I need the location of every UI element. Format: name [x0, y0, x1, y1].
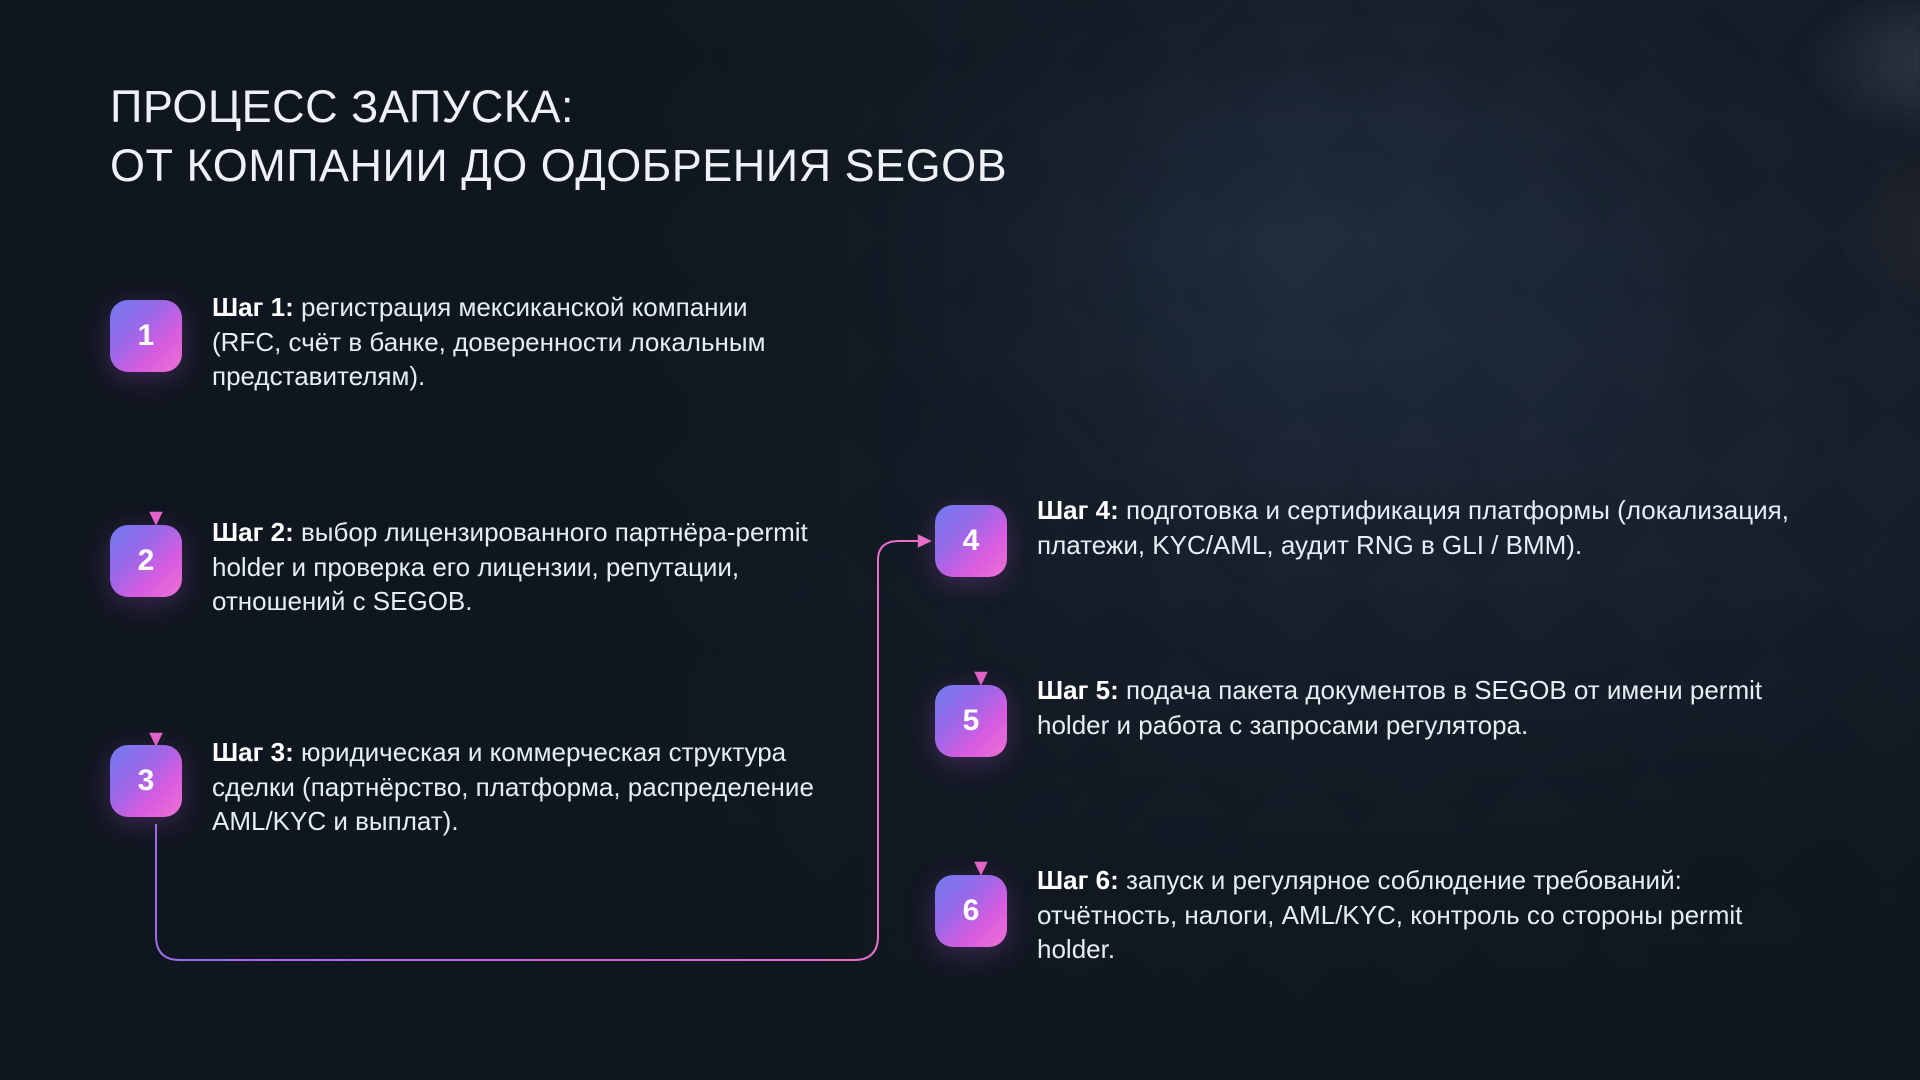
step-label-5: Шаг 5: — [1037, 675, 1119, 705]
step-body-3: юридическая и коммерческая структура сде… — [212, 737, 814, 836]
step-number-5: 5 — [963, 704, 980, 738]
step-body-6: запуск и регулярное соблюдение требовани… — [1037, 865, 1742, 964]
step-number-1: 1 — [138, 319, 155, 353]
title-line-1: ПРОЦЕСС ЗАПУСКА: — [110, 78, 1270, 137]
step-body-4: подготовка и сертификация платформы (лок… — [1037, 495, 1789, 560]
step-badge-3: 3 — [110, 745, 182, 817]
step-number-2: 2 — [138, 544, 155, 578]
step-label-4: Шаг 4: — [1037, 495, 1119, 525]
step-item-2[interactable]: 2 Шаг 2: выбор лицензированного партнёра… — [110, 525, 842, 619]
step-item-6[interactable]: 6 Шаг 6: запуск и регулярное соблюдение … — [935, 875, 1777, 967]
step-item-3[interactable]: 3 Шаг 3: юридическая и коммерческая стру… — [110, 745, 852, 839]
step-number-4: 4 — [963, 524, 980, 558]
step-body-2: выбор лицензированного партнёра-permit h… — [212, 517, 808, 616]
slide-title: ПРОЦЕСС ЗАПУСКА: ОТ КОМПАНИИ ДО ОДОБРЕНИ… — [110, 78, 1270, 195]
step-item-1[interactable]: 1 Шаг 1: регистрация мексиканской компан… — [110, 300, 812, 394]
step-text-6: Шаг 6: запуск и регулярное соблюдение тр… — [1037, 863, 1777, 967]
step-number-6: 6 — [963, 894, 980, 928]
step-number-3: 3 — [138, 764, 155, 798]
step-badge-2: 2 — [110, 525, 182, 597]
step-text-1: Шаг 1: регистрация мексиканской компании… — [212, 290, 812, 394]
step-badge-4: 4 — [935, 505, 1007, 577]
step-badge-6: 6 — [935, 875, 1007, 947]
step-label-3: Шаг 3: — [212, 737, 294, 767]
slide-canvas: ПРОЦЕСС ЗАПУСКА: ОТ КОМПАНИИ ДО ОДОБРЕНИ… — [0, 0, 1920, 1080]
step-badge-5: 5 — [935, 685, 1007, 757]
step-body-1: регистрация мексиканской компании (RFC, … — [212, 292, 765, 391]
step-item-4[interactable]: 4 Шаг 4: подготовка и сертификация платф… — [935, 505, 1837, 577]
step-text-3: Шаг 3: юридическая и коммерческая структ… — [212, 735, 852, 839]
step-label-6: Шаг 6: — [1037, 865, 1119, 895]
title-line-2: ОТ КОМПАНИИ ДО ОДОБРЕНИЯ SEGOB — [110, 137, 1270, 196]
step-badge-1: 1 — [110, 300, 182, 372]
step-label-1: Шаг 1: — [212, 292, 294, 322]
step-item-5[interactable]: 5 Шаг 5: подача пакета документов в SEGO… — [935, 685, 1797, 757]
step-text-5: Шаг 5: подача пакета документов в SEGOB … — [1037, 673, 1797, 742]
step-body-5: подача пакета документов в SEGOB от имен… — [1037, 675, 1762, 740]
step-text-4: Шаг 4: подготовка и сертификация платфор… — [1037, 493, 1837, 562]
step-text-2: Шаг 2: выбор лицензированного партнёра-p… — [212, 515, 842, 619]
step-label-2: Шаг 2: — [212, 517, 294, 547]
